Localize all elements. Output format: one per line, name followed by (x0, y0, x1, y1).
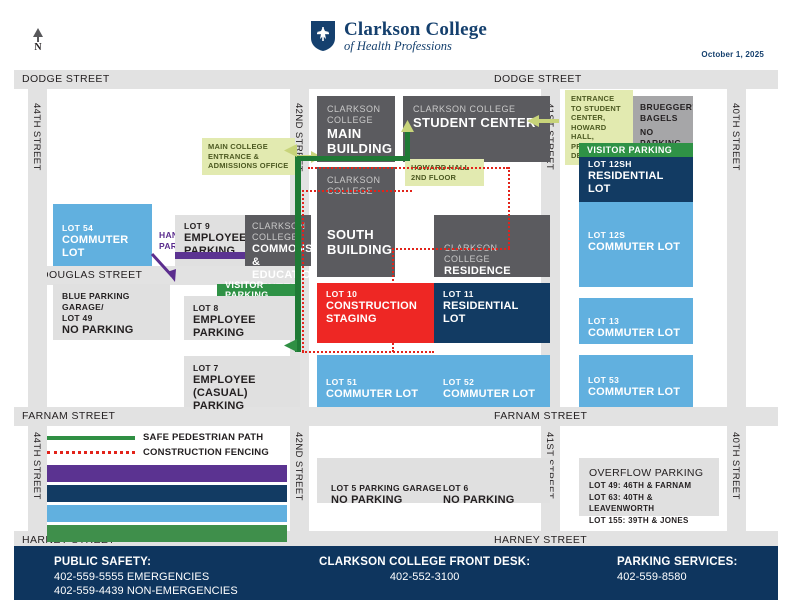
lot-5-title: LOT 5 PARKING GARAGE (331, 483, 442, 494)
compass-rose: N (26, 28, 50, 60)
lot-12sh-name: RESIDENTIAL LOT (588, 170, 684, 196)
contact-footer: PUBLIC SAFETY: 402-559-5555 EMERGENCIES … (14, 546, 778, 600)
street-farnam-right: FARNAM STREET (294, 407, 778, 426)
street-label-40th-bottom: 40TH STREET (730, 432, 741, 500)
lot-12s-name: COMMUTER LOT (588, 241, 684, 254)
street-40th-top: 40TH STREET (727, 89, 746, 407)
page-header: Clarkson College of Health Professions O… (0, 0, 792, 70)
footer-parking-services: PARKING SERVICES: 402-559-8580 (617, 555, 738, 584)
street-label-40th-top: 40TH STREET (730, 103, 741, 171)
street-label-dodge-right: DODGE STREET (294, 70, 778, 89)
lot-54-commuter[interactable]: LOT 54 COMMUTER LOT (53, 204, 152, 266)
street-44th-bottom: 44TH STREET (28, 426, 47, 531)
pedestrian-path-arrow-left-lower-icon (284, 338, 300, 353)
public-safety-emergency: 402-559-5555 EMERGENCIES (54, 570, 238, 584)
lot-53-commuter[interactable]: LOT 53 COMMUTER LOT (579, 355, 693, 407)
navy-swatch (47, 485, 287, 502)
lot-52-name: COMMUTER LOT (443, 388, 541, 401)
south-building-big-label: SOUTH BUILDING (327, 227, 385, 257)
legend-label-fencing: CONSTRUCTION FENCING (143, 447, 269, 458)
street-dodge-left: DODGE STREET (14, 70, 294, 89)
lot-8-employee[interactable]: LOT 8 EMPLOYEE PARKING (184, 296, 300, 340)
fence-mid-segment (392, 248, 510, 250)
front-desk-title: CLARKSON COLLEGE FRONT DESK: (319, 555, 530, 570)
street-dodge-right: DODGE STREET (294, 70, 778, 89)
lot-52-number: LOT 52 (443, 377, 541, 388)
lot-13-number: LOT 13 (588, 316, 684, 327)
lot-5-parking-garage[interactable]: LOT 5 PARKING GARAGE NO PARKING (331, 483, 442, 507)
pedestrian-path-arrow-left-icon (284, 143, 300, 158)
main-building-small-label: CLARKSON COLLEGE (327, 104, 385, 126)
south-building-small-label: CLARKSON COLLEGE (327, 175, 385, 197)
lot-11-residential[interactable]: LOT 11 RESIDENTIAL LOT (434, 283, 550, 343)
lot-11-name: RESIDENTIAL LOT (443, 300, 541, 326)
map-date: October 1, 2025 (701, 50, 764, 59)
lot-8-number: LOT 8 (193, 303, 291, 314)
pedestrian-path-horizontal (295, 156, 410, 161)
pedestrian-path-arrow-up-icon (400, 120, 415, 136)
lot-13-commuter[interactable]: LOT 13 COMMUTER LOT (579, 298, 693, 344)
building-student-center[interactable]: CLARKSON COLLEGE STUDENT CENTER (403, 96, 550, 162)
clarkson-college-logo: Clarkson College of Health Professions (310, 20, 487, 53)
visitor-parking-band-lot8: VISITOR PARKING (217, 284, 300, 296)
visitor-parking-label-east: VISITOR PARKING (587, 145, 672, 155)
lot-6-status: NO PARKING (443, 494, 514, 507)
fence-howard-segment (302, 190, 412, 192)
map-legend: SAFE PEDESTRIAN PATH CONSTRUCTION FENCIN… (47, 432, 287, 542)
street-label-farnam-right: FARNAM STREET (294, 407, 778, 426)
overflow-parking-title: OVERFLOW PARKING (589, 466, 709, 480)
lot-6[interactable]: LOT 6 NO PARKING (443, 483, 514, 507)
north-arrow-icon (33, 28, 43, 37)
south-garage-block: LOT 5 PARKING GARAGE NO PARKING LOT 6 NO… (317, 458, 550, 503)
parking-services-title: PARKING SERVICES: (617, 555, 738, 570)
pedestrian-path-swatch (47, 436, 135, 440)
fence-bottom-segment (302, 351, 434, 353)
street-label-42nd-bottom: 42ND STREET (293, 432, 304, 501)
footer-front-desk: CLARKSON COLLEGE FRONT DESK: 402-552-310… (319, 555, 530, 584)
lot-5-status: NO PARKING (331, 494, 442, 507)
callout-howard-hall: HOWARD HALL 2ND FLOOR (405, 159, 484, 186)
visitor-parking-band-east: VISITOR PARKING (579, 143, 693, 157)
lot-51-number: LOT 51 (326, 377, 425, 388)
lot-49-status: NO PARKING (62, 324, 161, 337)
pedestrian-path-riser (405, 132, 410, 161)
lot-51-name: COMMUTER LOT (326, 388, 425, 401)
entrance-arrow-left-icon (525, 114, 559, 128)
lot-6-title: LOT 6 (443, 483, 514, 494)
lot-12sh-number: LOT 12SH (588, 159, 684, 170)
overflow-item-2: LOT 155: 39TH & JONES (589, 515, 709, 527)
construction-fencing-swatch (47, 451, 135, 454)
lot-9-number: LOT 9 (184, 221, 236, 232)
overflow-item-0: LOT 49: 46TH & FARNAM (589, 480, 709, 492)
lot-13-name: COMMUTER LOT (588, 327, 684, 340)
logo-secondary-text: of Health Professions (344, 40, 487, 53)
lot-49-blue-garage[interactable]: BLUE PARKING GARAGE/ LOT 49 NO PARKING (53, 284, 170, 340)
lot-12s-commuter[interactable]: LOT 12S COMMUTER LOT (579, 202, 693, 287)
lot-8-name: EMPLOYEE PARKING (193, 314, 291, 340)
lot-10-name: CONSTRUCTION STAGING (326, 300, 425, 326)
legend-label-pedestrian: SAFE PEDESTRIAN PATH (143, 432, 263, 443)
building-residence-hall[interactable]: CLARKSON COLLEGE RESIDENCE HALL (434, 215, 550, 277)
legend-row-fencing: CONSTRUCTION FENCING (47, 447, 287, 458)
brueggers-bagels[interactable]: BRUEGGER'S BAGELS NO PARKING (633, 96, 693, 143)
lot-53-name: COMMUTER LOT (588, 386, 684, 399)
fence-right-upper (508, 167, 510, 248)
lot-11-number: LOT 11 (443, 289, 541, 300)
campus-map: DODGE STREET DODGE STREET DOUGLAS STREET… (14, 70, 778, 540)
lot-7-employee-casual[interactable]: LOT 7 EMPLOYEE (CASUAL) PARKING (184, 356, 300, 407)
lot-10-construction-staging[interactable]: LOT 10 CONSTRUCTION STAGING (317, 283, 434, 343)
logo-primary-text: Clarkson College (344, 20, 487, 39)
front-desk-phone: 402-552-3100 (319, 570, 530, 584)
legend-row-pedestrian: SAFE PEDESTRIAN PATH (47, 432, 287, 443)
lot-7-name: EMPLOYEE (CASUAL) PARKING (193, 374, 291, 413)
lot-54-number: LOT 54 (62, 223, 143, 234)
lot-54-name: COMMUTER LOT (62, 234, 143, 260)
handicap-stall-band (175, 252, 245, 259)
blue-swatch (47, 505, 287, 522)
street-label-44th-bottom: 44TH STREET (31, 432, 42, 500)
residence-hall-small-label: CLARKSON COLLEGE (444, 243, 540, 265)
callout-main-entrance: MAIN COLLEGE ENTRANCE & ADMISSIONS OFFIC… (202, 138, 295, 175)
footer-public-safety: PUBLIC SAFETY: 402-559-5555 EMERGENCIES … (54, 555, 238, 598)
lot-52-commuter[interactable]: LOT 52 COMMUTER LOT (434, 355, 550, 407)
green-swatch (47, 525, 287, 542)
street-40th-bottom: 40TH STREET (727, 426, 746, 531)
purple-swatch (47, 465, 287, 482)
building-south[interactable]: CLARKSON COLLEGE SOUTH BUILDING (317, 167, 395, 277)
street-label-44th-top: 44TH STREET (31, 103, 42, 171)
student-center-small-label: CLARKSON COLLEGE (413, 104, 540, 115)
compass-north-label: N (26, 42, 50, 53)
lot-51-commuter[interactable]: LOT 51 COMMUTER LOT (317, 355, 434, 407)
street-label-dodge-left: DODGE STREET (14, 70, 294, 89)
public-safety-nonemergency: 402-559-4439 NON-EMERGENCIES (54, 584, 238, 598)
overflow-parking-box[interactable]: OVERFLOW PARKING LOT 49: 46TH & FARNAM L… (579, 458, 719, 516)
street-44th-top: 44TH STREET (28, 89, 47, 407)
brueggers-name: BRUEGGER'S BAGELS (640, 102, 686, 124)
lot-49-title: BLUE PARKING GARAGE/ LOT 49 (62, 291, 161, 324)
overflow-item-1: LOT 63: 40TH & LEAVENWORTH (589, 492, 709, 515)
street-42nd-bottom: 42ND STREET (290, 426, 309, 531)
lot-7-number: LOT 7 (193, 363, 291, 374)
student-center-big-label: STUDENT CENTER (413, 115, 540, 130)
shield-cross-icon (310, 20, 336, 52)
parking-services-phone: 402-559-8580 (617, 570, 738, 584)
lot-53-number: LOT 53 (588, 375, 684, 386)
fence-top-segment (308, 167, 508, 169)
main-building-big-label: MAIN BUILDING (327, 126, 385, 156)
public-safety-title: PUBLIC SAFETY: (54, 555, 238, 570)
lot-12s-number: LOT 12S (588, 230, 684, 241)
brueggers-status: NO PARKING (640, 127, 686, 143)
lot-12sh-residential[interactable]: LOT 12SH RESIDENTIAL LOT (579, 157, 693, 202)
fence-left-vertical (302, 190, 304, 352)
lot-10-number: LOT 10 (326, 289, 425, 300)
pedestrian-path-vertical (295, 156, 301, 352)
building-main[interactable]: CLARKSON COLLEGE MAIN BUILDING (317, 96, 395, 162)
